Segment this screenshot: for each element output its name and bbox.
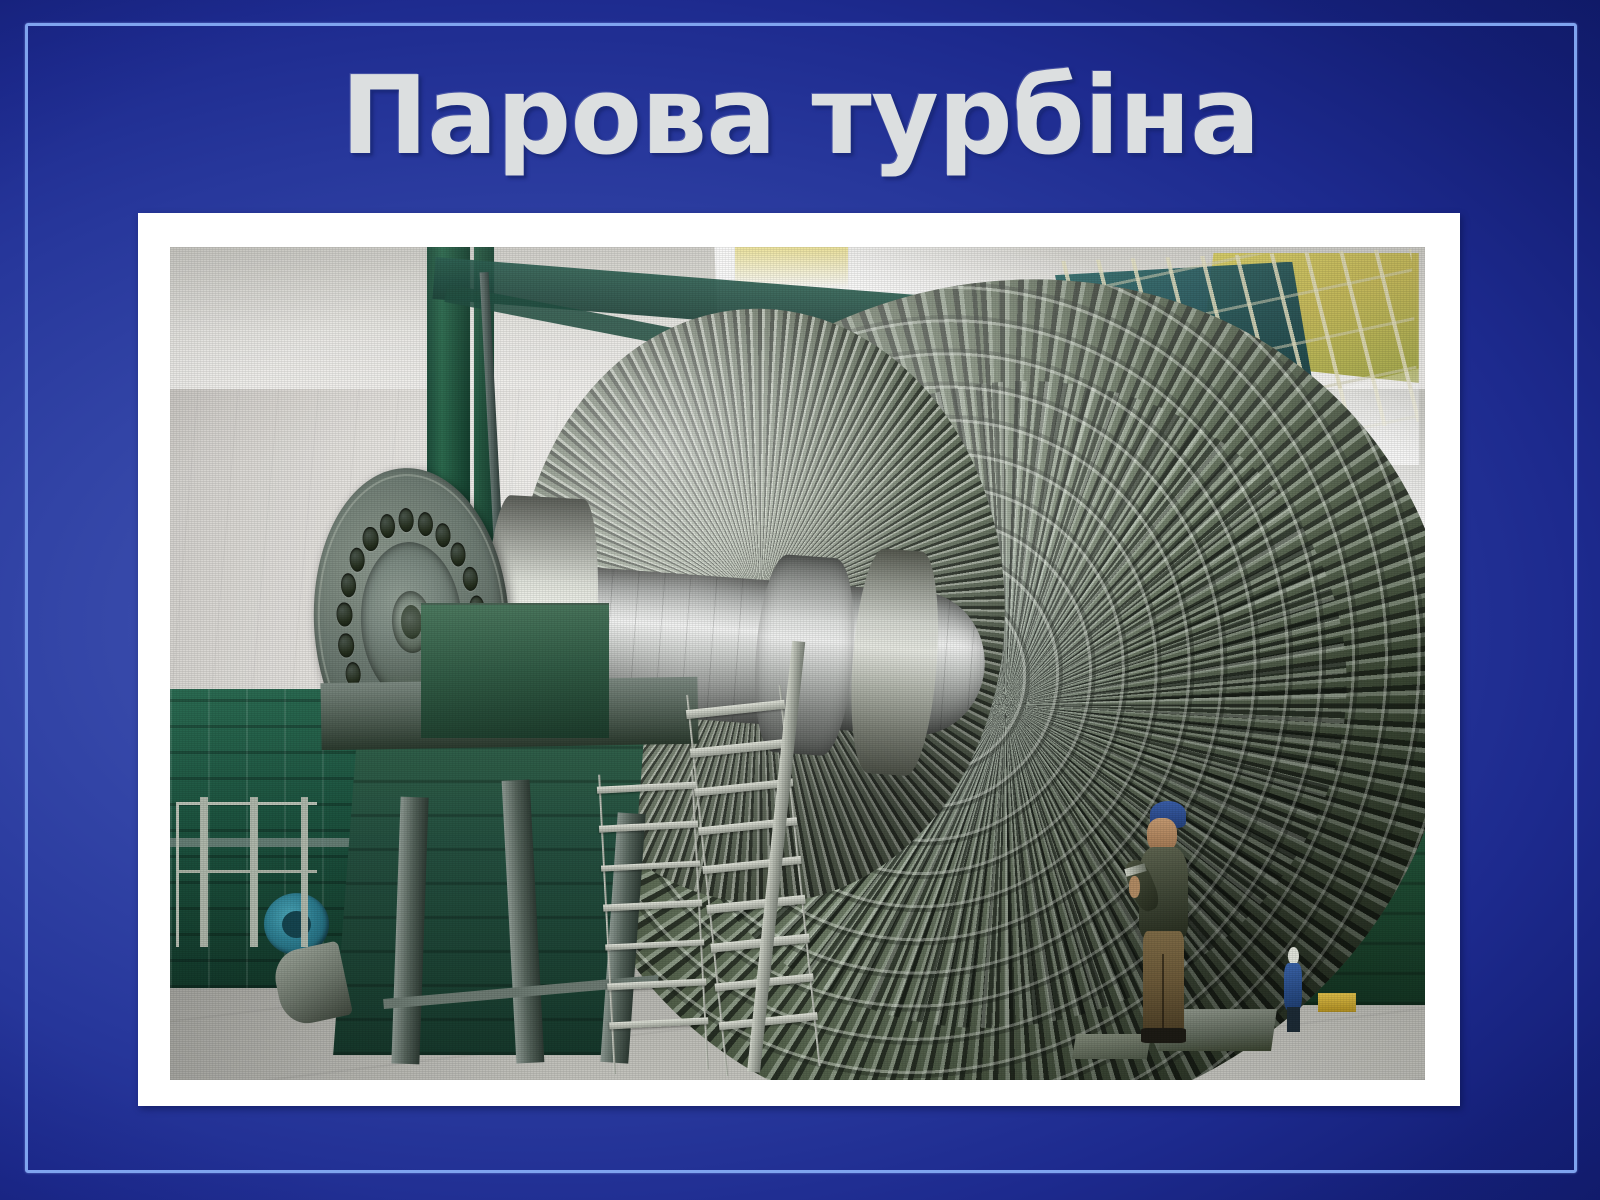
ladder-rung xyxy=(706,894,806,913)
flange-bolt xyxy=(379,513,395,538)
worker-figure xyxy=(1129,801,1199,1043)
platform-handrail xyxy=(176,802,317,947)
turbine-photo xyxy=(170,247,1425,1080)
flange-bolt xyxy=(337,602,353,627)
worker-hand xyxy=(1129,876,1140,898)
flange-bolt xyxy=(340,573,356,598)
ladder-rung xyxy=(596,781,696,793)
ladder-rung xyxy=(600,860,700,872)
flange-bolt xyxy=(435,523,451,548)
flange-bolt xyxy=(338,632,354,657)
title-area: Парова турбіна xyxy=(0,52,1600,182)
flange-bolt xyxy=(451,542,467,567)
shaft-collar-b xyxy=(845,546,946,776)
ladder-rung xyxy=(598,821,698,833)
flange-bolt xyxy=(363,527,379,552)
floor-yellow-marker xyxy=(1318,993,1356,1011)
worker-figure-background xyxy=(1281,947,1306,1030)
ladder-rung xyxy=(605,939,705,951)
photo-frame xyxy=(138,213,1460,1106)
handrail-post-3 xyxy=(301,797,309,947)
ladder-rung xyxy=(718,1011,818,1030)
worker-boots xyxy=(1141,1028,1186,1042)
ladder-rung xyxy=(602,899,702,911)
worker-bg-legs xyxy=(1287,1007,1300,1032)
ladder-rung xyxy=(702,855,802,874)
bearing-housing xyxy=(421,603,609,738)
ladder-rung xyxy=(607,978,707,990)
ladder-rung xyxy=(609,1018,709,1030)
slide: Парова турбіна xyxy=(0,0,1600,1200)
worker-legs xyxy=(1143,931,1184,1032)
worker-bg-body xyxy=(1284,963,1302,1011)
flange-bolt xyxy=(462,567,478,592)
flange-bolt xyxy=(349,547,365,572)
page-title: Парова турбіна xyxy=(341,60,1260,173)
ladder-rung xyxy=(690,739,790,758)
photo-inner xyxy=(170,247,1425,1080)
handrail-post-2 xyxy=(250,797,258,947)
ladder-rung xyxy=(686,700,786,719)
handrail-post-1 xyxy=(200,797,208,947)
flange-bolt xyxy=(398,508,414,533)
flange-bolt xyxy=(417,511,433,536)
